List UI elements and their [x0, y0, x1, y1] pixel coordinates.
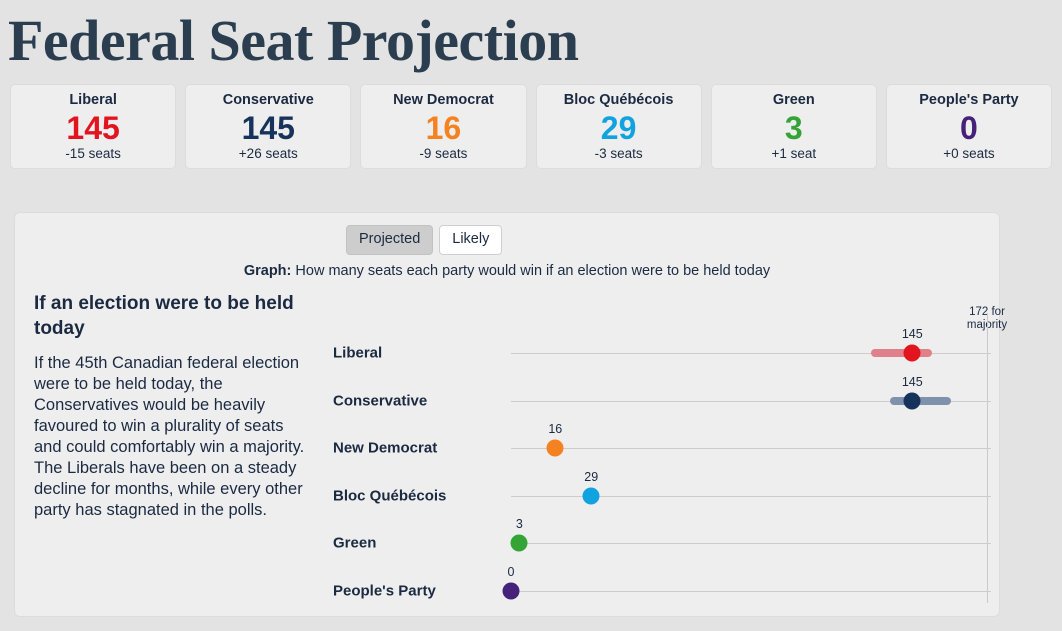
party-card-change: -15 seats	[11, 146, 175, 162]
party-card-seats: 29	[537, 110, 701, 146]
party-card-green[interactable]: Green 3 +1 seat	[711, 84, 877, 169]
party-card-change: +0 seats	[887, 146, 1051, 162]
chart-data-label: 3	[516, 517, 523, 531]
party-card-name: Bloc Québécois	[537, 91, 701, 109]
projection-panel: Projected Likely Graph: How many seats e…	[14, 212, 1000, 617]
party-card-name: Green	[712, 91, 876, 109]
chart-data-point[interactable]	[904, 393, 921, 410]
party-card-bloc-quebecois[interactable]: Bloc Québécois 29 -3 seats	[536, 84, 702, 169]
party-card-name: Conservative	[186, 91, 350, 109]
chart-data-label: 145	[902, 327, 923, 341]
seat-projection-chart: 172 for majority Liberal145Conservative1…	[15, 213, 1001, 618]
party-card-seats: 145	[186, 110, 350, 146]
party-card-change: +1 seat	[712, 146, 876, 162]
chart-gridline	[511, 543, 991, 544]
chart-gridline	[511, 448, 991, 449]
party-card-seats: 3	[712, 110, 876, 146]
party-card-name: People's Party	[887, 91, 1051, 109]
page-title: Federal Seat Projection	[8, 12, 1062, 70]
chart-row-label: People's Party	[333, 583, 436, 600]
majority-threshold-line	[987, 313, 988, 603]
party-card-seats: 0	[887, 110, 1051, 146]
party-card-name: New Democrat	[361, 91, 525, 109]
party-card-new-democrat[interactable]: New Democrat 16 -9 seats	[360, 84, 526, 169]
chart-gridline	[511, 591, 991, 592]
chart-data-point[interactable]	[511, 535, 528, 552]
chart-data-point[interactable]	[583, 488, 600, 505]
chart-data-point[interactable]	[503, 583, 520, 600]
party-card-peoples-party[interactable]: People's Party 0 +0 seats	[886, 84, 1052, 169]
party-card-conservative[interactable]: Conservative 145 +26 seats	[185, 84, 351, 169]
chart-data-point[interactable]	[547, 440, 564, 457]
chart-data-label: 29	[584, 470, 598, 484]
chart-data-label: 16	[548, 422, 562, 436]
chart-data-point[interactable]	[904, 345, 921, 362]
party-card-name: Liberal	[11, 91, 175, 109]
party-summary-cards: Liberal 145 -15 seats Conservative 145 +…	[0, 84, 1062, 169]
chart-row-label: Liberal	[333, 345, 382, 362]
chart-row-label: New Democrat	[333, 440, 437, 457]
chart-data-label: 145	[902, 375, 923, 389]
chart-row-label: Green	[333, 535, 376, 552]
party-card-seats: 145	[11, 110, 175, 146]
chart-range-bar	[871, 349, 932, 357]
chart-row-label: Conservative	[333, 393, 427, 410]
party-card-change: -3 seats	[537, 146, 701, 162]
party-card-liberal[interactable]: Liberal 145 -15 seats	[10, 84, 176, 169]
party-card-change: -9 seats	[361, 146, 525, 162]
chart-data-label: 0	[508, 565, 515, 579]
party-card-change: +26 seats	[186, 146, 350, 162]
chart-row-label: Bloc Québécois	[333, 488, 446, 505]
party-card-seats: 16	[361, 110, 525, 146]
